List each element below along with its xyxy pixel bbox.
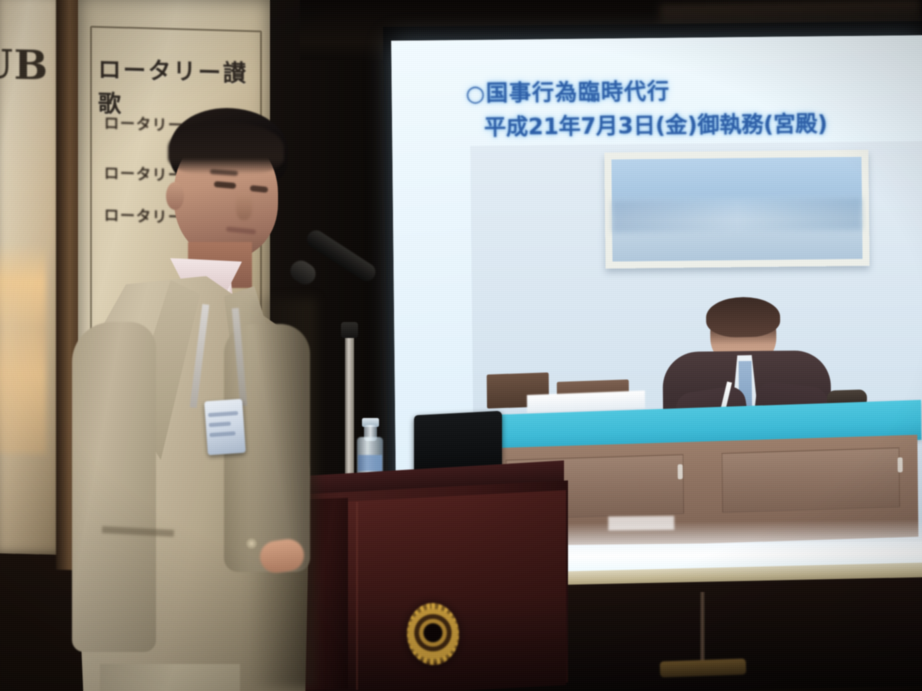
speaker-person <box>78 108 348 691</box>
name-badge <box>204 399 246 456</box>
badge-text-line-1 <box>208 411 238 417</box>
slide-bullet-line: ○国事行為臨時代行 <box>466 74 671 108</box>
banner-far: UB <box>0 0 60 555</box>
speaker-hair-fringe <box>168 122 284 174</box>
table-foot <box>660 659 747 678</box>
badge-text-line-3 <box>209 431 235 437</box>
bottle-label <box>358 455 382 471</box>
framed-painting <box>604 150 869 269</box>
table-leg <box>700 592 705 670</box>
podium-seam <box>356 502 358 690</box>
slide-date-line: 平成21年7月3日(金)御執務(宮殿) <box>484 106 828 142</box>
speaker-nose <box>236 192 252 220</box>
speaker-jacket-shadow <box>248 298 316 688</box>
speaker-trousers <box>100 664 240 691</box>
photo-scene: UB ロータリー讃歌 ロータリー ロータリー ロータリー ○国事行為臨時代行 平… <box>0 0 922 691</box>
banner-far-text: UB <box>0 41 58 90</box>
desk-drawer-handle-right <box>898 457 903 472</box>
badge-text-line-2 <box>209 422 231 428</box>
painting-brushwork <box>612 198 862 233</box>
seated-person-hair <box>706 297 780 338</box>
speaker-ear <box>166 182 184 210</box>
desk-drawer-handle-left <box>678 464 683 479</box>
speaker-jacket-button <box>246 538 257 549</box>
desk-drawer-right <box>722 447 901 513</box>
speaker-jacket-sleeve-left <box>72 322 156 652</box>
banner-far-light-reflection <box>0 243 46 454</box>
